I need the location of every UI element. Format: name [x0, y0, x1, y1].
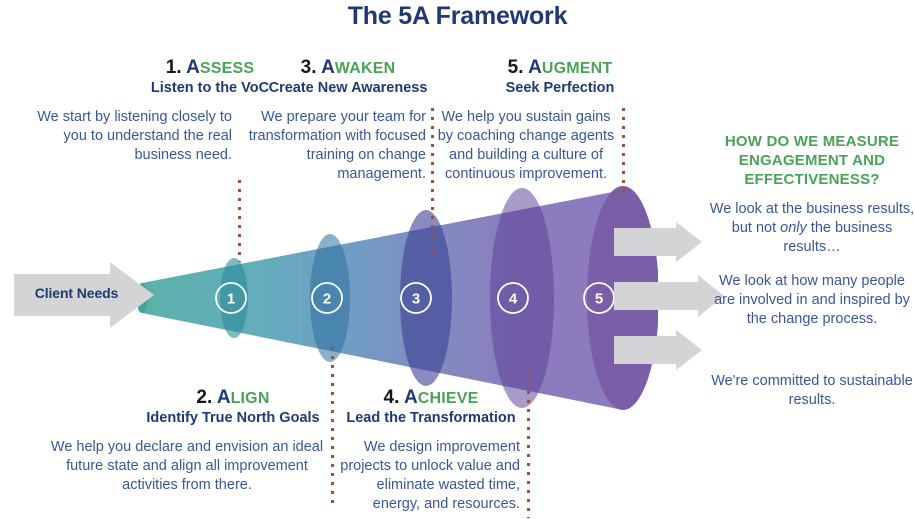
- stage-subtitle-5: Seek Perfection: [462, 81, 658, 97]
- stage-number-3: 3.: [301, 57, 317, 78]
- stage-rest-5: UGMENT: [542, 60, 613, 77]
- stage-body-2: We help you declare and envision an idea…: [48, 438, 326, 495]
- stage-cap-3: A: [321, 57, 335, 78]
- funnel-graphic: 1 2 3 4 5: [138, 185, 658, 415]
- stage-subtitle-2: Identify True North Goals: [140, 411, 326, 427]
- stage-body-1: We start by listening closely to you to …: [22, 108, 232, 165]
- outcomes-paragraph-1: We look at the business results, but not…: [707, 200, 915, 257]
- stage-subtitle-4: Lead the Transformation: [338, 411, 524, 427]
- outcome-arrow-3: [614, 330, 702, 370]
- outcomes-paragraph-1-text: We look at the business results, but not…: [710, 201, 914, 255]
- stage-rest-3: WAKEN: [335, 60, 396, 77]
- outcome-arrow-1: [614, 222, 702, 262]
- stage-body-5: We help you sustain gains by coaching ch…: [434, 108, 618, 183]
- divider-dots-4: [331, 347, 334, 507]
- divider-dots-1: [238, 180, 241, 262]
- stage-cap-1: A: [186, 57, 200, 78]
- outcomes-paragraph-3: We're committed to sustainable results.: [707, 372, 915, 410]
- divider-dots-3: [622, 108, 625, 198]
- stage-number-4: 4.: [384, 387, 400, 408]
- stage-number-2: 2.: [196, 387, 212, 408]
- stage-body-3: We prepare your team for transformation …: [240, 108, 426, 183]
- stage-subtitle-3: Create New Awareness: [248, 81, 448, 97]
- stage-heading-4: 4. ACHIEVE Lead the Transformation: [338, 388, 524, 426]
- stage-heading-5: 5. AUGMENT Seek Perfection: [462, 58, 658, 96]
- divider-dots-5: [527, 373, 530, 518]
- page-title: The 5A Framework: [0, 2, 915, 31]
- stage-number-1: 1.: [166, 57, 182, 78]
- stage-number-5: 5.: [508, 57, 524, 78]
- stage-rest-2: LIGN: [231, 390, 270, 407]
- client-needs-label: Client Needs: [24, 285, 129, 301]
- outcomes-heading: HOW DO WE MEASURE ENGAGEMENT AND EFFECTI…: [712, 133, 912, 190]
- stage-cap-2: A: [217, 387, 231, 408]
- framework-diagram: The 5A Framework: [0, 0, 915, 519]
- stage-rest-4: CHIEVE: [418, 390, 479, 407]
- stage-body-4: We design improvement projects to unlock…: [340, 438, 520, 513]
- outcomes-paragraph-2: We look at how many people are involved …: [707, 272, 915, 329]
- stage-heading-2: 2. ALIGN Identify True North Goals: [140, 388, 326, 426]
- stage-cap-4: A: [404, 387, 418, 408]
- stage-heading-3: 3. AWAKEN Create New Awareness: [248, 58, 448, 96]
- stage-rest-1: SSESS: [200, 60, 254, 77]
- stage-cap-5: A: [528, 57, 542, 78]
